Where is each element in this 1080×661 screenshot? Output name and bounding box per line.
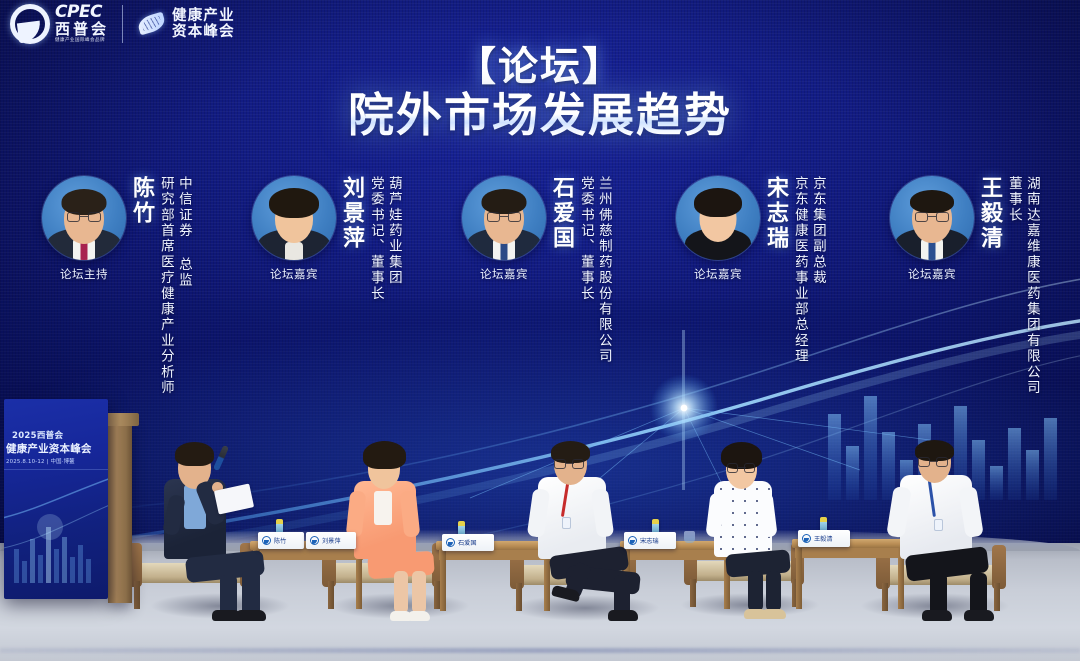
title-bracket-line: 【论坛】: [0, 46, 1080, 88]
panelist-title-3b: 党委书记、董事长: [577, 176, 593, 364]
panelist-photo-3: 论坛嘉宾: [462, 176, 546, 282]
panelist-title-1a: 中信证券 总监: [175, 176, 191, 396]
panelist-photo-4: 论坛嘉宾: [676, 176, 760, 282]
panelist-role-1: 论坛主持: [42, 266, 126, 282]
nameplate-logo-icon: [310, 536, 319, 545]
nameplate-logo-icon: [262, 536, 271, 545]
nameplate-1: 陈竹: [258, 532, 304, 549]
seated-panelist-3: [526, 426, 648, 621]
panelist-titles-1: 中信证券 总监 研究部首席医疗健康产业分析师: [155, 176, 191, 396]
title-main-line: 院外市场发展趋势: [0, 90, 1080, 142]
nameplate-label-3: 石爱国: [458, 538, 477, 547]
seated-panelist-2: [340, 431, 450, 621]
id-badge: [934, 519, 943, 531]
cpec-ring-icon: [10, 4, 50, 44]
panelist-name-2: 刘景萍: [340, 176, 362, 251]
banner-line2: 健康产业资本峰会: [6, 441, 92, 456]
panelist-name-1: 陈竹: [130, 176, 152, 226]
panelist-card-3: 论坛嘉宾 石爱国 兰州佛慈制药股份有限公司 党委书记、董事长: [462, 176, 611, 364]
seated-panelist-1: [150, 431, 270, 621]
panelist-title-5b: 董事长: [1005, 176, 1021, 396]
avatar-1: [42, 176, 126, 260]
panelist-title-2a: 葫芦娃药业集团: [385, 176, 401, 302]
nameplate-3: 石爱国: [442, 534, 494, 551]
panelist-role-4: 论坛嘉宾: [676, 266, 760, 282]
panelist-strip: 论坛主持 陈竹 中信证券 总监 研究部首席医疗健康产业分析师 论坛嘉宾 刘景萍: [0, 176, 1080, 426]
summit-line1: 健康产业: [172, 8, 235, 24]
panelist-name-5: 王毅清: [978, 176, 1000, 251]
panelist-role-3: 论坛嘉宾: [462, 266, 546, 282]
cpec-subtitle: 健康产业国际峰会品牌: [55, 39, 109, 44]
avatar-2: [252, 176, 336, 260]
water-glass: [684, 531, 695, 543]
nameplate-label-4: 宋志瑞: [640, 536, 659, 545]
avatar-5: [890, 176, 974, 260]
nameplate-logo-icon: [628, 536, 637, 545]
carpet-seam: [0, 648, 1080, 653]
panelist-title-2b: 党委书记、董事长: [367, 176, 383, 302]
panelist-photo-2: 论坛嘉宾: [252, 176, 336, 282]
banner-line1: 2025西普会: [12, 429, 63, 441]
panelist-card-2: 论坛嘉宾 刘景萍 葫芦娃药业集团 党委书记、董事长: [252, 176, 401, 302]
panelist-titles-3: 兰州佛慈制药股份有限公司 党委书记、董事长: [575, 176, 611, 364]
lectern: [108, 423, 132, 603]
panelist-photo-5: 论坛嘉宾: [890, 176, 974, 282]
banner-line3: 2025.8.10-12 | 中国·博鳌: [6, 457, 75, 465]
forum-title-block: 【论坛】 院外市场发展趋势: [0, 46, 1080, 142]
seated-panelist-4: [700, 431, 808, 619]
id-badge: [562, 517, 571, 529]
summit-line2: 资本峰会: [172, 24, 235, 40]
avatar-3: [462, 176, 546, 260]
panelist-title-1b: 研究部首席医疗健康产业分析师: [157, 176, 173, 396]
nameplate-logo-icon: [802, 534, 811, 543]
panelist-name-4: 宋志瑞: [764, 176, 786, 251]
panelist-titles-4: 京东集团副总裁 京东健康医药事业部总经理: [789, 176, 825, 364]
nameplate-5: 王毅清: [798, 530, 850, 547]
nameplate-label-2: 刘景萍: [322, 536, 341, 545]
panelist-card-5: 论坛嘉宾 王毅清 湖南达嘉维康医药集团有限公司 董事长: [890, 176, 1039, 396]
avatar-4: [676, 176, 760, 260]
leaf-icon: [136, 11, 166, 37]
nameplate-2: 刘景萍: [306, 532, 356, 549]
stage-led-backdrop: CPEC 西普会 健康产业国际峰会品牌 健康产业 资本峰会 【论坛】 院外市场发…: [0, 0, 1080, 661]
nameplate-logo-icon: [446, 538, 455, 547]
panelist-role-5: 论坛嘉宾: [890, 266, 974, 282]
panelist-role-2: 论坛嘉宾: [252, 266, 336, 282]
panelist-card-1: 论坛主持 陈竹 中信证券 总监 研究部首席医疗健康产业分析师: [42, 176, 191, 396]
panelist-title-5a: 湖南达嘉维康医药集团有限公司: [1023, 176, 1039, 396]
rollup-banner: 2025西普会 健康产业资本峰会 2025.8.10-12 | 中国·博鳌: [4, 399, 108, 599]
nameplate-4: 宋志瑞: [624, 532, 676, 549]
logo-divider: [122, 5, 123, 43]
panelist-name-3: 石爱国: [550, 176, 572, 251]
panelist-title-4a: 京东集团副总裁: [809, 176, 825, 364]
panelist-titles-2: 葫芦娃药业集团 党委书记、董事长: [365, 176, 401, 302]
panelist-title-4b: 京东健康医药事业部总经理: [791, 176, 807, 364]
panelist-titles-5: 湖南达嘉维康医药集团有限公司 董事长: [1003, 176, 1039, 396]
panelist-title-3a: 兰州佛慈制药股份有限公司: [595, 176, 611, 364]
panelist-card-4: 论坛嘉宾 宋志瑞 京东集团副总裁 京东健康医药事业部总经理: [676, 176, 825, 364]
cpec-chinese: 西普会: [55, 22, 109, 37]
cpec-acronym: CPEC: [55, 4, 109, 21]
seated-panelist-5: [886, 425, 1014, 621]
nameplate-label-1: 陈竹: [274, 536, 286, 545]
cpec-logo: CPEC 西普会 健康产业国际峰会品牌: [10, 4, 109, 44]
panelist-photo-1: 论坛主持: [42, 176, 126, 282]
header-logos: CPEC 西普会 健康产业国际峰会品牌 健康产业 资本峰会: [10, 4, 235, 44]
nameplate-label-5: 王毅清: [814, 534, 833, 543]
summit-logo: 健康产业 资本峰会: [136, 8, 235, 40]
